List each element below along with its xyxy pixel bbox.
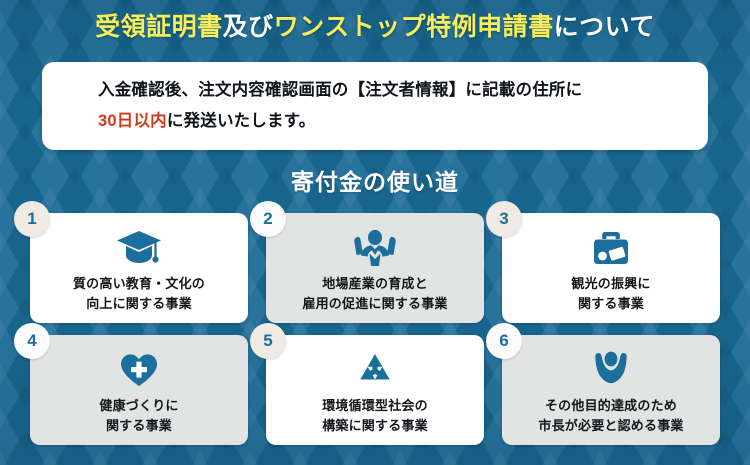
section-title-donation-usage: 寄付金の使い道 <box>0 163 750 197</box>
card-badge-5: 5 <box>250 323 286 359</box>
title-segment-onestop: ワンストップ特例申請書 <box>274 13 554 41</box>
suitcase-icon <box>589 226 633 270</box>
card-label-5-line2: 構築に関する事業 <box>322 416 428 436</box>
card-label-6-line2: 市長が必要と認める事業 <box>538 416 683 436</box>
card-label-1-line1: 質の高い教育・文化の <box>73 274 205 294</box>
notice-line-2: 30日以内に発送いたします。 <box>42 106 708 137</box>
card-label-3: 観光の振興に 関する事業 <box>571 274 650 313</box>
card-label-4-line1: 健康づくりに <box>99 396 178 416</box>
usage-card-6[interactable]: 6 その他目的達成のため 市長が必要と認める事業 <box>502 335 720 445</box>
card-label-5: 環境循環型社会の 構築に関する事業 <box>322 396 428 435</box>
usage-card-3[interactable]: 3 観光の振興に 関する事業 <box>502 213 720 323</box>
card-badge-4: 4 <box>14 323 50 359</box>
card-badge-2: 2 <box>250 201 286 237</box>
person-open-arms-icon <box>591 348 631 392</box>
card-label-1: 質の高い教育・文化の 向上に関する事業 <box>73 274 205 313</box>
card-label-3-line1: 観光の振興に <box>571 274 650 294</box>
person-raised-arms-icon <box>352 226 398 270</box>
usage-card-1[interactable]: 1 質の高い教育・文化の 向上に関する事業 <box>30 213 248 323</box>
card-label-6-line1: その他目的達成のため <box>538 396 683 416</box>
card-badge-6: 6 <box>486 323 522 359</box>
usage-card-grid: 1 質の高い教育・文化の 向上に関する事業 2 <box>30 213 720 445</box>
card-label-4: 健康づくりに 関する事業 <box>99 396 178 435</box>
graduation-cap-icon <box>116 226 162 270</box>
card-label-2-line2: 雇用の促進に関する事業 <box>302 294 447 314</box>
card-label-5-line1: 環境循環型社会の <box>322 396 428 416</box>
usage-card-5[interactable]: 5 <box>266 335 484 445</box>
recycle-icon <box>353 348 397 392</box>
title-segment-and: 及び <box>223 13 274 41</box>
card-badge-3: 3 <box>486 201 522 237</box>
usage-card-2[interactable]: 2 地場産業の育成と 雇用の促進に関する事業 <box>266 213 484 323</box>
card-label-1-line2: 向上に関する事業 <box>73 294 205 314</box>
notice-deadline-emphasis: 30日以内 <box>98 112 167 130</box>
card-label-6: その他目的達成のため 市長が必要と認める事業 <box>538 396 683 435</box>
card-label-2: 地場産業の育成と 雇用の促進に関する事業 <box>302 274 447 313</box>
notice-line-1: 入金確認後、注文内容確認画面の【注文者情報】に記載の住所に <box>42 75 708 106</box>
card-label-4-line2: 関する事業 <box>99 416 178 436</box>
card-label-3-line2: 関する事業 <box>571 294 650 314</box>
poster-content: 受領証明書及びワンストップ特例申請書について 入金確認後、注文内容確認画面の【注… <box>0 0 750 42</box>
card-label-2-line1: 地場産業の育成と <box>302 274 447 294</box>
notice-card: 入金確認後、注文内容確認画面の【注文者情報】に記載の住所に 30日以内に発送いた… <box>42 62 708 150</box>
card-badge-1: 1 <box>14 201 50 237</box>
title-segment-about: について <box>554 13 655 41</box>
title-segment-receipt: 受領証明書 <box>95 13 223 41</box>
heart-plus-icon <box>118 348 160 392</box>
page-title: 受領証明書及びワンストップ特例申請書について <box>0 0 750 42</box>
promo-poster: 受領証明書及びワンストップ特例申請書について 入金確認後、注文内容確認画面の【注… <box>0 0 750 465</box>
notice-deadline-rest: に発送いたします。 <box>167 112 316 130</box>
usage-card-4[interactable]: 4 健康づくりに 関する事業 <box>30 335 248 445</box>
